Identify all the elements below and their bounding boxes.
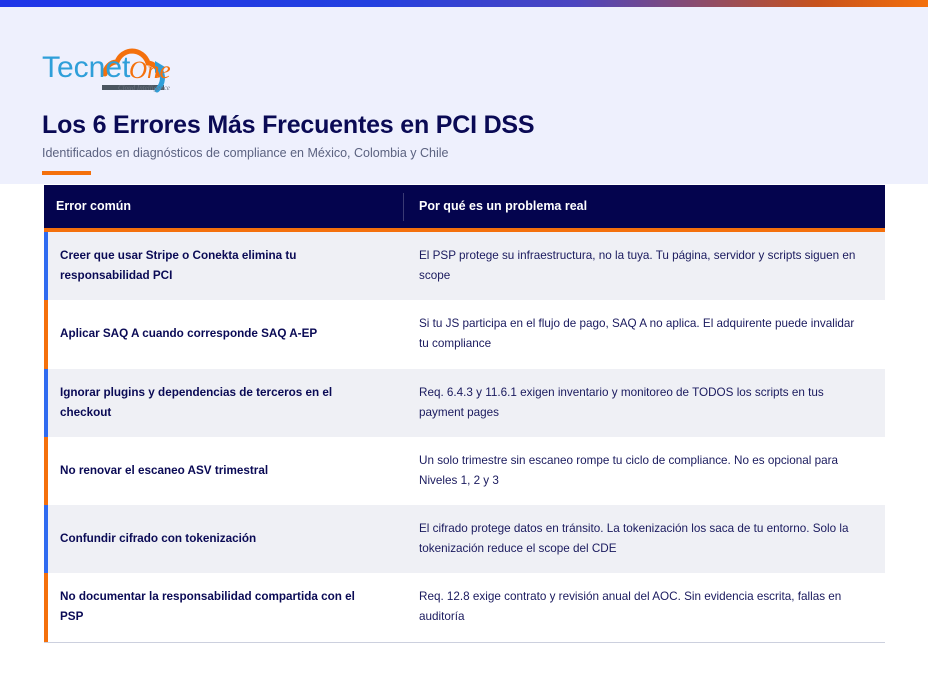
row-accent-bar <box>44 437 48 505</box>
column-header-why: Por qué es un problema real <box>419 185 587 228</box>
table-bottom-border <box>44 642 885 643</box>
table-row: Ignorar plugins y dependencias de tercer… <box>44 369 885 437</box>
table-row: No documentar la responsabilidad compart… <box>44 573 885 641</box>
tecnetone-logo: Tecnet One Cloud Intelligence <box>42 41 212 101</box>
table-row: Confundir cifrado con tokenización El ci… <box>44 505 885 573</box>
row-accent-bar <box>44 300 48 368</box>
cell-error: Aplicar SAQ A cuando corresponde SAQ A-E… <box>44 310 403 358</box>
top-gradient-bar <box>0 0 928 7</box>
cell-why: Req. 6.4.3 y 11.6.1 exigen inventario y … <box>403 369 885 437</box>
cell-error: Confundir cifrado con tokenización <box>44 515 403 563</box>
cell-why: Si tu JS participa en el flujo de pago, … <box>403 300 885 368</box>
table-row: Creer que usar Stripe o Conekta elimina … <box>44 232 885 300</box>
table-header-row: Error común Por qué es un problema real <box>44 185 885 232</box>
logo-text-tecnet: Tecnet <box>42 51 131 84</box>
row-accent-bar <box>44 573 48 641</box>
column-header-error: Error común <box>56 185 131 228</box>
page-subtitle: Identificados en diagnósticos de complia… <box>42 146 448 160</box>
title-underline-rule <box>42 171 91 175</box>
cell-why: Req. 12.8 exige contrato y revisión anua… <box>403 573 885 641</box>
cell-error: No renovar el escaneo ASV trimestral <box>44 447 403 495</box>
logo-tagline: Cloud Intelligence <box>118 84 170 92</box>
row-accent-bar <box>44 505 48 573</box>
cell-error: No documentar la responsabilidad compart… <box>44 573 403 641</box>
row-accent-bar <box>44 232 48 300</box>
cell-error: Ignorar plugins y dependencias de tercer… <box>44 369 403 437</box>
table-row: No renovar el escaneo ASV trimestral Un … <box>44 437 885 505</box>
logo-text-one: One <box>129 57 171 84</box>
cell-error: Creer que usar Stripe o Conekta elimina … <box>44 232 403 300</box>
cell-why: Un solo trimestre sin escaneo rompe tu c… <box>403 437 885 505</box>
errors-table: Error común Por qué es un problema real … <box>44 185 885 643</box>
header-column-divider <box>403 193 404 221</box>
page-title: Los 6 Errores Más Frecuentes en PCI DSS <box>42 111 534 140</box>
cell-why: El cifrado protege datos en tránsito. La… <box>403 505 885 573</box>
row-accent-bar <box>44 369 48 437</box>
table-row: Aplicar SAQ A cuando corresponde SAQ A-E… <box>44 300 885 368</box>
cell-why: El PSP protege su infraestructura, no la… <box>403 232 885 300</box>
